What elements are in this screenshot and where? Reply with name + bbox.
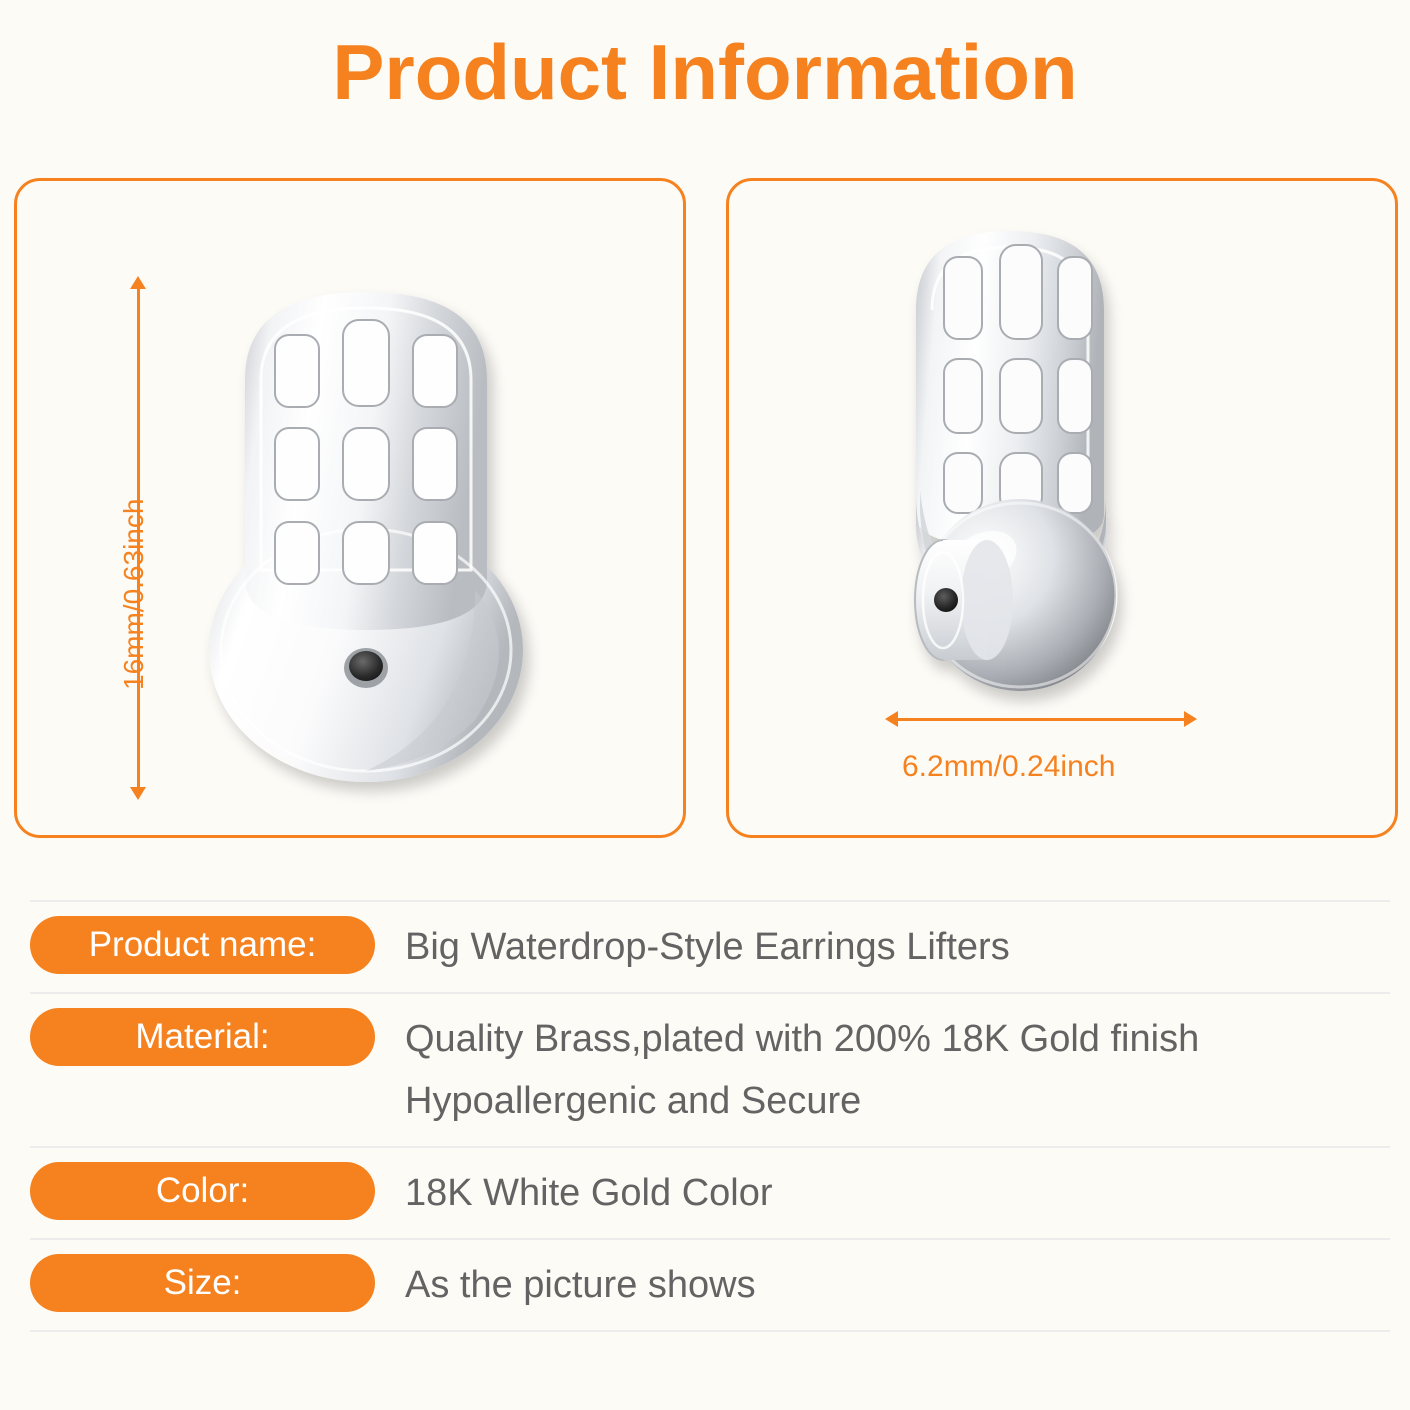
spec-row-size: Size: As the picture shows: [30, 1240, 1390, 1332]
spec-value-material-line2: Hypoallergenic and Secure: [405, 1070, 1390, 1132]
spec-row-color: Color: 18K White Gold Color: [30, 1148, 1390, 1240]
spec-value-color: 18K White Gold Color: [405, 1162, 1390, 1224]
earring-lifter-side-view-image: [820, 195, 1240, 725]
spec-label-size: Size:: [30, 1254, 375, 1312]
page-title: Product Information: [0, 22, 1410, 122]
spec-label-product-name: Product name:: [30, 916, 375, 974]
spec-value-material-line1: Quality Brass,plated with 200% 18K Gold …: [405, 1018, 1199, 1060]
dimension-label-height: 16mm/0.63inch: [118, 499, 150, 690]
spec-value-material: Quality Brass,plated with 200% 18K Gold …: [405, 1008, 1390, 1132]
spec-value-size: As the picture shows: [405, 1254, 1390, 1316]
spec-value-product-name: Big Waterdrop-Style Earrings Lifters: [405, 916, 1390, 978]
spec-label-color: Color:: [30, 1162, 375, 1220]
spec-row-material: Material: Quality Brass,plated with 200%…: [30, 994, 1390, 1148]
dimension-arrow-width: [897, 718, 1185, 721]
spec-label-material: Material:: [30, 1008, 375, 1066]
spec-row-product-name: Product name: Big Waterdrop-Style Earrin…: [30, 900, 1390, 994]
dimension-label-width: 6.2mm/0.24inch: [902, 750, 1115, 784]
earring-lifter-front-view-image: [175, 250, 595, 810]
product-information-page: Product Information: [0, 0, 1410, 1410]
product-spec-table: Product name: Big Waterdrop-Style Earrin…: [30, 900, 1390, 1332]
